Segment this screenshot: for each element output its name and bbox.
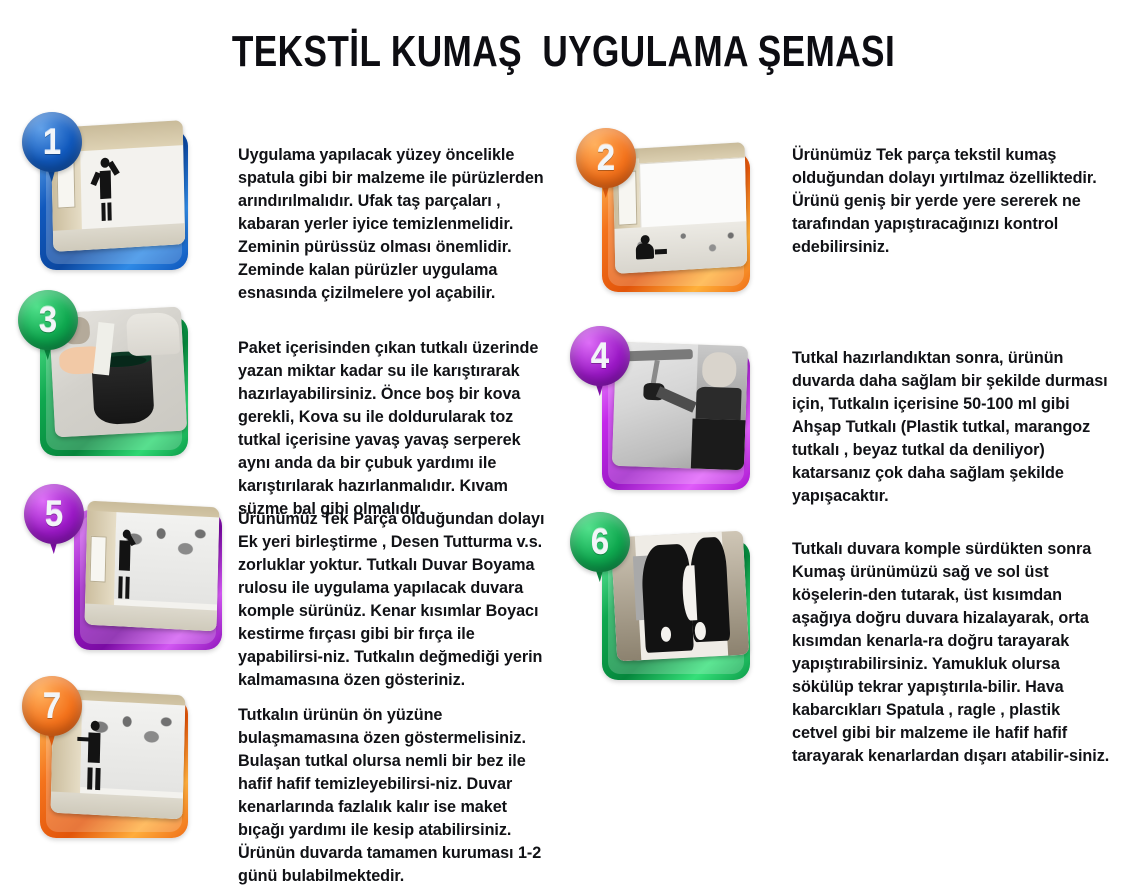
step-7-text: Tutkalın ürünün ön yüzüne bulaşmamasına … bbox=[238, 704, 556, 888]
step-4-number: 4 bbox=[591, 338, 609, 374]
header: TEKSTİL KUMAŞ UYGULAMA ŞEMASI bbox=[0, 0, 1127, 74]
step-7-number-badge: 7 bbox=[22, 676, 86, 740]
page-title: TEKSTİL KUMAŞ UYGULAMA ŞEMASI bbox=[232, 30, 895, 74]
step-3-number-badge: 3 bbox=[18, 290, 82, 354]
step-1-number: 1 bbox=[43, 124, 61, 160]
step-4-text: Tutkal hazırlandıktan sonra, ürünün duva… bbox=[792, 347, 1110, 508]
step-7-card: 7 bbox=[18, 680, 196, 855]
step-2-text: Ürünümüz Tek parça tekstil kumaş olduğun… bbox=[792, 144, 1110, 259]
step-5-photo bbox=[85, 501, 220, 632]
step-3-text: Paket içerisinden çıkan tutkalı üzerinde… bbox=[238, 337, 556, 521]
step-3-card: 3 bbox=[18, 298, 196, 473]
step-2-card: 2 bbox=[580, 134, 758, 309]
step-5-card: 5 bbox=[52, 492, 230, 667]
step-5-number-badge: 5 bbox=[24, 484, 88, 548]
steps-board: 1 Uygulama yapılacak yüzey öncelikle spa… bbox=[0, 104, 1127, 888]
step-1-text: Uygulama yapılacak yüzey öncelikle spatu… bbox=[238, 144, 556, 305]
step-1-card: 1 bbox=[18, 112, 196, 287]
step-1-number-badge: 1 bbox=[22, 112, 86, 176]
step-6-text: Tutkalı duvara komple sürdükten sonra Ku… bbox=[792, 538, 1110, 768]
step-6-number-badge: 6 bbox=[570, 512, 634, 576]
step-3-number: 3 bbox=[39, 302, 57, 338]
step-7-number: 7 bbox=[43, 688, 61, 724]
step-4-number-badge: 4 bbox=[570, 326, 634, 390]
step-6-card: 6 bbox=[580, 522, 758, 697]
step-4-card: 4 bbox=[580, 332, 758, 507]
step-5-text: Ürünümüz Tek Parça olduğundan dolayı Ek … bbox=[238, 508, 556, 692]
step-2-number: 2 bbox=[597, 140, 615, 176]
step-6-number: 6 bbox=[591, 524, 609, 560]
step-5-number: 5 bbox=[45, 496, 63, 532]
step-2-number-badge: 2 bbox=[576, 128, 640, 192]
